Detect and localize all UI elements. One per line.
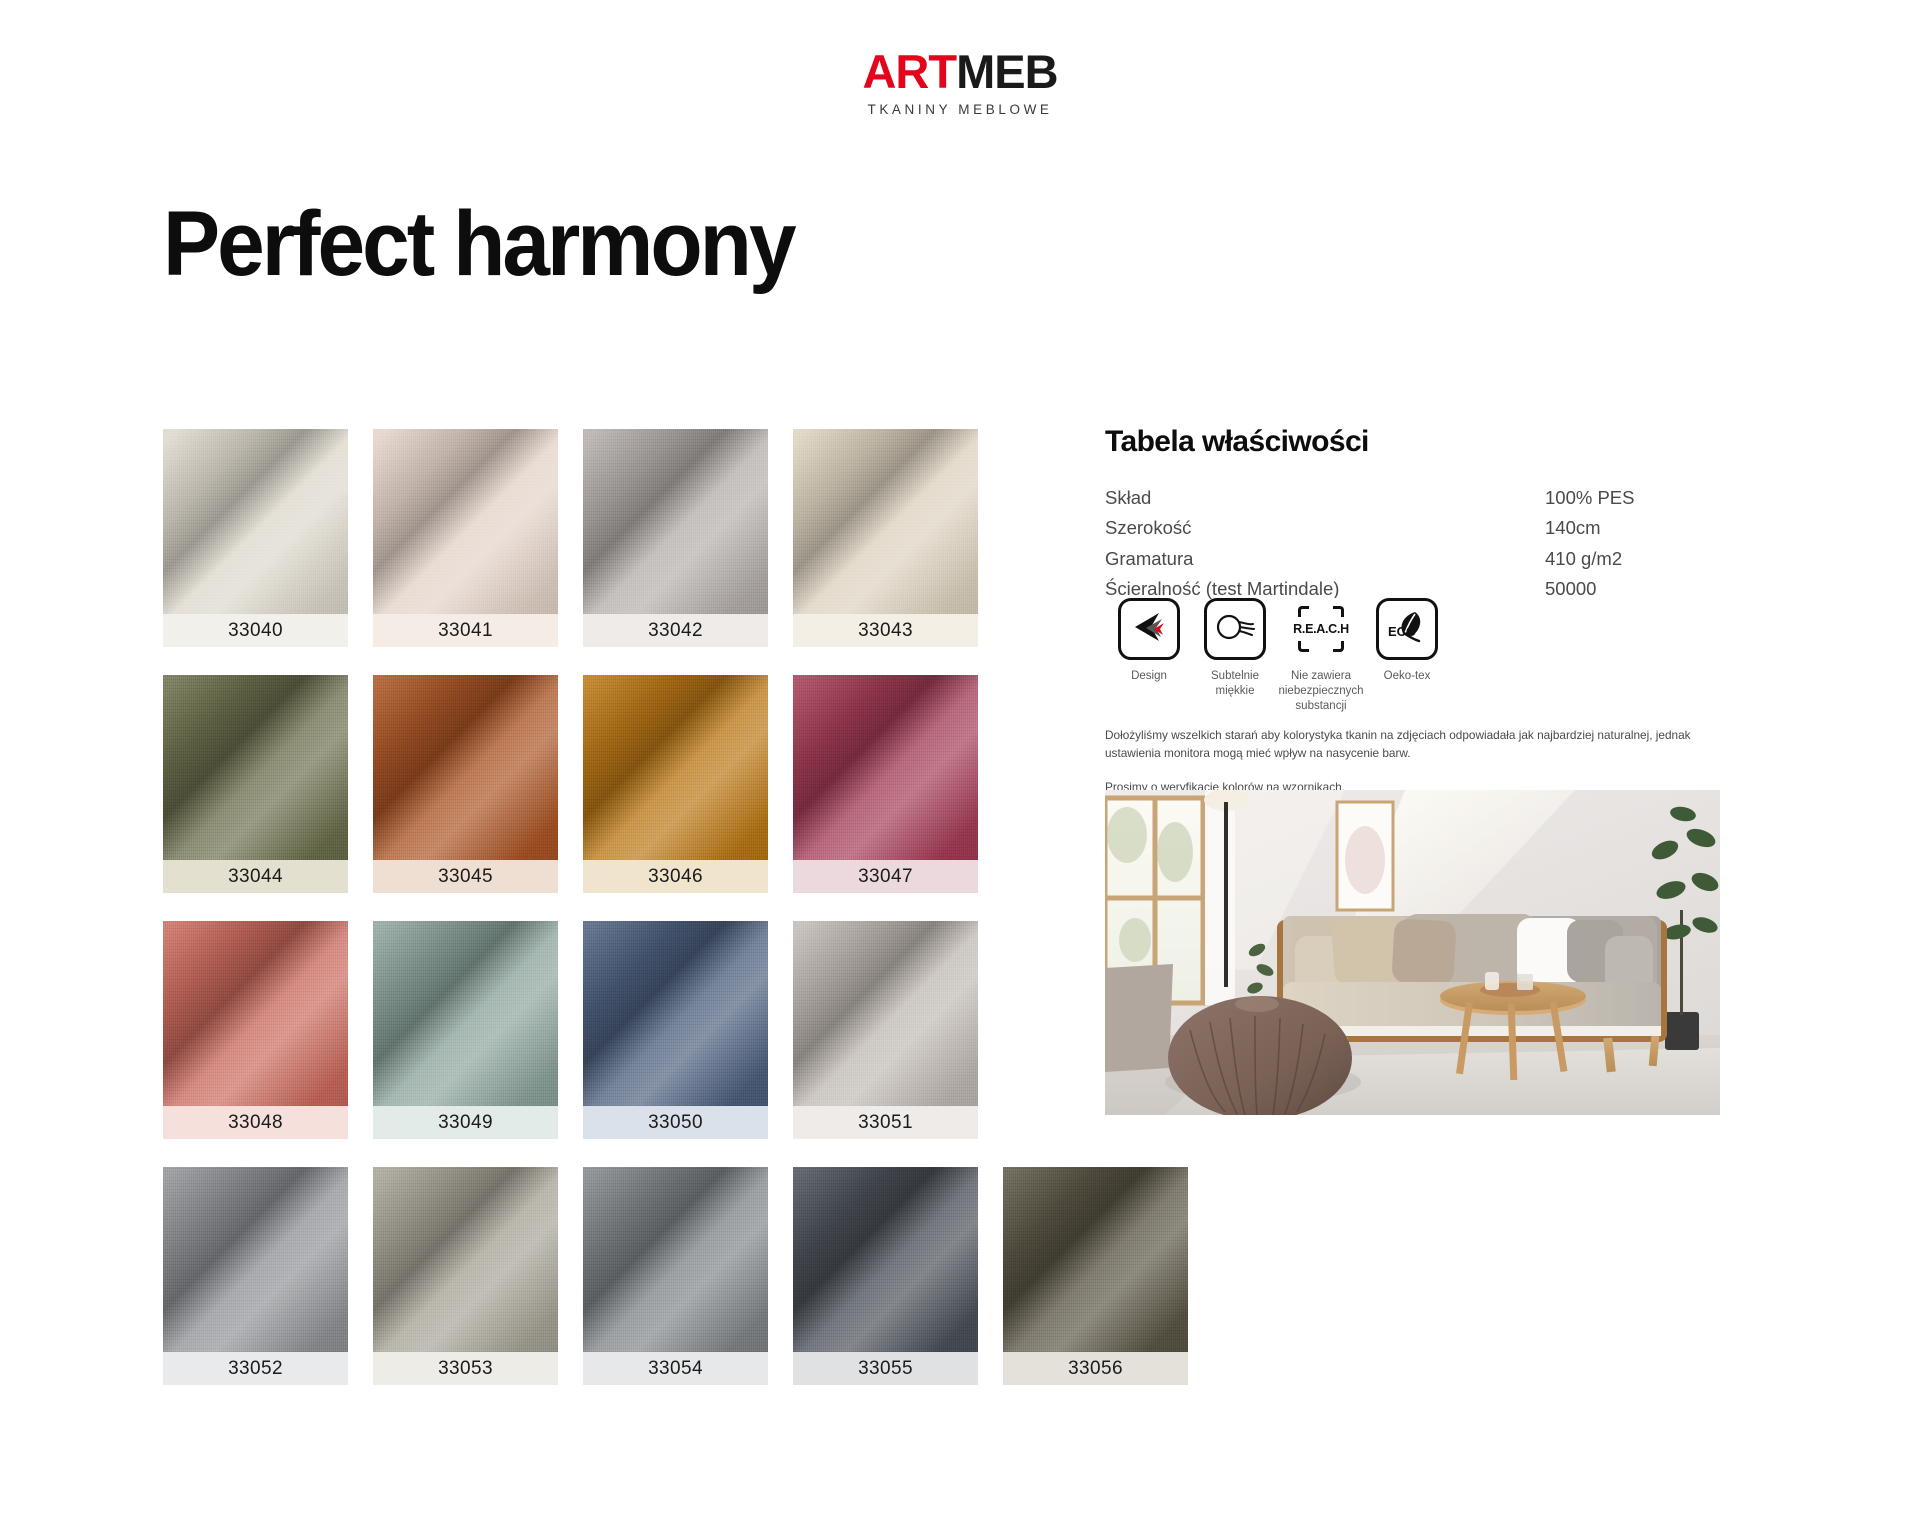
room-scene-illustration	[1105, 790, 1720, 1115]
badge-design-box	[1118, 598, 1180, 660]
swatch-code-label: 33048	[163, 1106, 348, 1139]
badge-oeko-tex-caption: Oeko-tex	[1364, 669, 1450, 684]
swatch-texture-33051	[793, 921, 978, 1106]
corner-bracket-bl-icon	[1298, 641, 1309, 652]
badge-reach-caption: Nie zawiera niebezpiecznych substancji	[1278, 669, 1364, 715]
badge-soft-touch: Subtelnie miękkie	[1204, 598, 1266, 715]
swatch-weave-pattern	[583, 429, 768, 614]
badge-oeko-tex-box: ECO	[1376, 598, 1438, 660]
swatch-row: 3305233053330543305533056	[163, 1167, 1323, 1385]
swatch-code-label: 33044	[163, 860, 348, 893]
property-label: Gramatura	[1105, 546, 1535, 576]
swatch-code-label: 33041	[373, 614, 558, 647]
interior-room-photo	[1105, 790, 1720, 1115]
swatch-texture-33056	[1003, 1167, 1188, 1352]
swatch-texture-33055	[793, 1167, 978, 1352]
swatch-weave-pattern	[163, 675, 348, 860]
badge-reach-box: R.E.A.C.H	[1290, 598, 1352, 660]
badge-design: Design	[1118, 598, 1180, 715]
swatch-weave-pattern	[373, 675, 558, 860]
fabric-swatch-33045[interactable]: 33045	[373, 675, 558, 893]
swatch-texture-33040	[163, 429, 348, 614]
property-label: Szerokość	[1105, 515, 1535, 545]
logo-tagline: TKANINY MEBLOWE	[0, 102, 1920, 117]
fabric-swatch-33042[interactable]: 33042	[583, 429, 768, 647]
eco-leaf-icon: ECO	[1385, 609, 1429, 650]
fabric-swatch-33047[interactable]: 33047	[793, 675, 978, 893]
fabric-swatch-33054[interactable]: 33054	[583, 1167, 768, 1385]
property-value: 100% PES	[1535, 485, 1745, 515]
property-value: 50000	[1535, 576, 1745, 606]
certification-badges: Design Subtelnie miękkie	[1118, 598, 1438, 715]
fabric-swatch-33044[interactable]: 33044	[163, 675, 348, 893]
property-value: 410 g/m2	[1535, 546, 1745, 576]
fabric-swatch-33048[interactable]: 33048	[163, 921, 348, 1139]
swatch-code-label: 33049	[373, 1106, 558, 1139]
property-row: Gramatura410 g/m2	[1105, 546, 1745, 576]
swatch-code-label: 33047	[793, 860, 978, 893]
logo-art-text: ART	[862, 45, 956, 98]
reach-icon: R.E.A.C.H	[1293, 622, 1349, 636]
fabric-swatch-33049[interactable]: 33049	[373, 921, 558, 1139]
swatch-texture-33043	[793, 429, 978, 614]
swatch-weave-pattern	[163, 921, 348, 1106]
svg-text:ECO: ECO	[1388, 624, 1416, 639]
swatch-weave-pattern	[373, 429, 558, 614]
brand-logo: ARTMEB TKANINY MEBLOWE	[0, 48, 1920, 117]
swatch-code-label: 33051	[793, 1106, 978, 1139]
properties-panel: Tabela właściwości Skład100% PESSzerokoś…	[1105, 425, 1745, 606]
swatch-texture-33050	[583, 921, 768, 1106]
property-row: Szerokość140cm	[1105, 515, 1745, 545]
soft-touch-icon	[1214, 611, 1256, 648]
logo-meb-text: MEB	[956, 45, 1057, 98]
swatch-weave-pattern	[1003, 1167, 1188, 1352]
disclaimer-paragraph-1: Dołożyliśmy wszelkich starań aby kolorys…	[1105, 727, 1720, 763]
swatch-weave-pattern	[793, 675, 978, 860]
swatch-texture-33046	[583, 675, 768, 860]
swatch-weave-pattern	[793, 429, 978, 614]
corner-bracket-tr-icon	[1333, 606, 1344, 617]
fabric-swatch-33055[interactable]: 33055	[793, 1167, 978, 1385]
page-title: Perfect harmony	[163, 196, 794, 293]
fabric-swatch-33053[interactable]: 33053	[373, 1167, 558, 1385]
swatch-texture-33042	[583, 429, 768, 614]
corner-bracket-tl-icon	[1298, 606, 1309, 617]
swatch-texture-33053	[373, 1167, 558, 1352]
swatch-code-label: 33045	[373, 860, 558, 893]
fabric-swatch-33040[interactable]: 33040	[163, 429, 348, 647]
swatch-weave-pattern	[793, 1167, 978, 1352]
swatch-texture-33047	[793, 675, 978, 860]
swatch-weave-pattern	[583, 1167, 768, 1352]
swatch-weave-pattern	[163, 429, 348, 614]
swatch-code-label: 33055	[793, 1352, 978, 1385]
property-label: Skład	[1105, 485, 1535, 515]
swatch-weave-pattern	[793, 921, 978, 1106]
swatch-code-label: 33042	[583, 614, 768, 647]
fabric-swatch-33052[interactable]: 33052	[163, 1167, 348, 1385]
fabric-swatch-33046[interactable]: 33046	[583, 675, 768, 893]
catalog-page: ARTMEB TKANINY MEBLOWE Perfect harmony 3…	[0, 0, 1920, 1538]
color-disclaimer: Dołożyliśmy wszelkich starań aby kolorys…	[1105, 727, 1720, 797]
fabric-swatch-33041[interactable]: 33041	[373, 429, 558, 647]
swatch-weave-pattern	[583, 921, 768, 1106]
fabric-swatch-33043[interactable]: 33043	[793, 429, 978, 647]
swatch-texture-33049	[373, 921, 558, 1106]
swatch-code-label: 33050	[583, 1106, 768, 1139]
swatch-texture-33048	[163, 921, 348, 1106]
properties-table: Skład100% PESSzerokość140cmGramatura410 …	[1105, 485, 1745, 606]
badge-reach: R.E.A.C.H Nie zawiera niebezpiecznych su…	[1290, 598, 1352, 715]
swatch-texture-33044	[163, 675, 348, 860]
badge-oeko-tex: ECO Oeko-tex	[1376, 598, 1438, 715]
swatch-weave-pattern	[373, 1167, 558, 1352]
corner-bracket-br-icon	[1333, 641, 1344, 652]
swatch-code-label: 33054	[583, 1352, 768, 1385]
swatch-weave-pattern	[373, 921, 558, 1106]
swatch-code-label: 33056	[1003, 1352, 1188, 1385]
property-value: 140cm	[1535, 515, 1745, 545]
swatch-code-label: 33052	[163, 1352, 348, 1385]
fabric-swatch-33050[interactable]: 33050	[583, 921, 768, 1139]
property-row: Skład100% PES	[1105, 485, 1745, 515]
badge-soft-touch-caption: Subtelnie miękkie	[1192, 669, 1278, 699]
swatch-code-label: 33043	[793, 614, 978, 647]
swatch-code-label: 33040	[163, 614, 348, 647]
swatch-texture-33041	[373, 429, 558, 614]
swatch-texture-33052	[163, 1167, 348, 1352]
swatch-weave-pattern	[163, 1167, 348, 1352]
swatch-code-label: 33046	[583, 860, 768, 893]
badge-design-caption: Design	[1106, 669, 1192, 684]
fabric-swatch-33051[interactable]: 33051	[793, 921, 978, 1139]
swatch-texture-33054	[583, 1167, 768, 1352]
properties-title: Tabela właściwości	[1105, 425, 1745, 459]
swatch-code-label: 33053	[373, 1352, 558, 1385]
badge-soft-touch-box	[1204, 598, 1266, 660]
swatch-texture-33045	[373, 675, 558, 860]
design-chevron-icon	[1129, 611, 1169, 648]
fabric-swatch-33056[interactable]: 33056	[1003, 1167, 1188, 1385]
logo-wordmark: ARTMEB	[0, 48, 1920, 95]
swatch-weave-pattern	[583, 675, 768, 860]
